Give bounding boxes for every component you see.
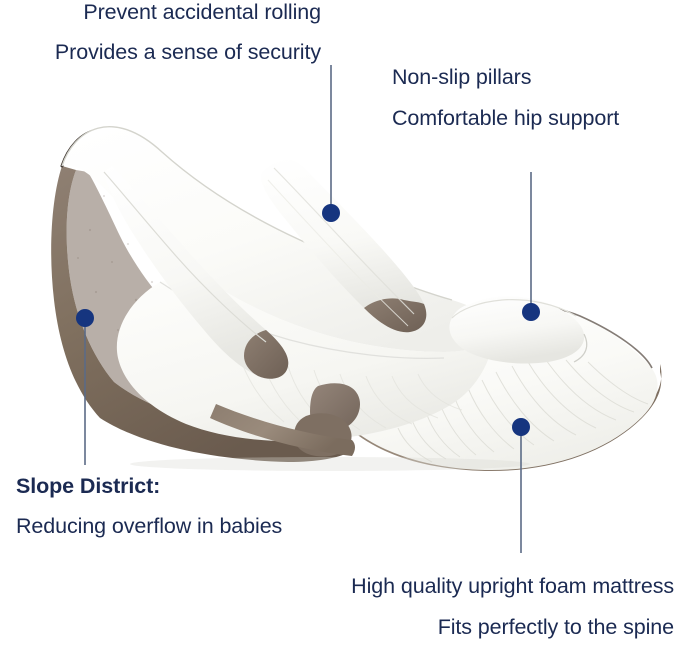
callout-dot-hip-support[interactable]	[522, 303, 540, 321]
callout-dot-slope-district[interactable]	[76, 309, 94, 327]
callout-slope-district	[76, 309, 94, 465]
caption-high-quality-upright-foam-mattress: High quality upright foam mattress	[0, 574, 674, 599]
callout-foam-mattress	[512, 418, 530, 553]
caption-comfortable-hip-support: Comfortable hip support	[392, 106, 619, 131]
callout-layer	[0, 0, 679, 648]
caption-non-slip-pillars: Non-slip pillars	[392, 65, 531, 90]
caption-reducing-overflow-in-babies: Reducing overflow in babies	[16, 514, 282, 539]
callout-non-slip-pillars	[322, 65, 340, 222]
product-infographic: Prevent accidental rolling Provides a se…	[0, 0, 679, 648]
caption-provides-sense-of-security: Provides a sense of security	[0, 40, 321, 65]
callout-hip-support	[522, 172, 540, 321]
caption-prevent-accidental-rolling: Prevent accidental rolling	[0, 0, 321, 25]
callout-dot-foam-mattress[interactable]	[512, 418, 530, 436]
caption-fits-perfectly-to-the-spine: Fits perfectly to the spine	[0, 615, 674, 640]
caption-slope-district-title: Slope District:	[16, 474, 160, 499]
callout-dot-non-slip-pillars[interactable]	[322, 204, 340, 222]
